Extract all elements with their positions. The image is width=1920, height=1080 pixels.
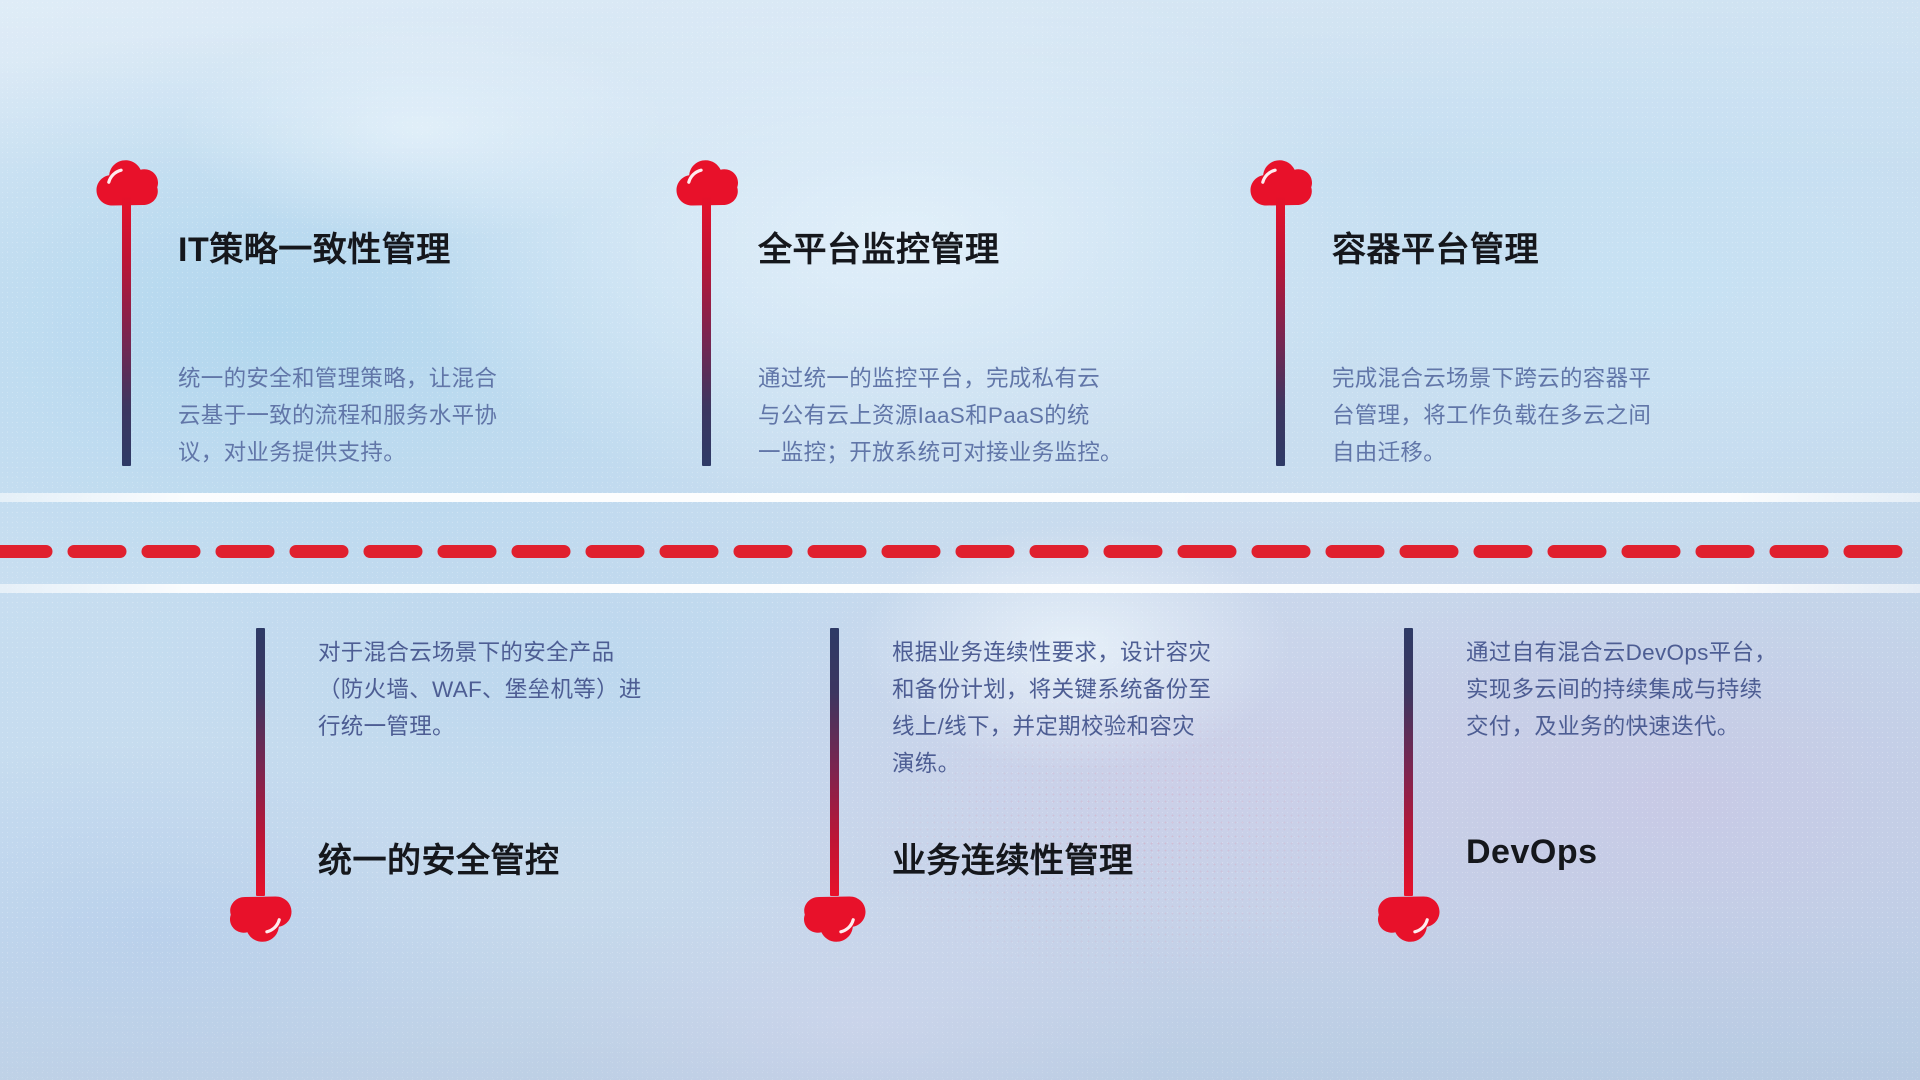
description-line: 演练。 — [892, 745, 1322, 782]
description-line: 线上/线下，并定期校验和容灾 — [892, 708, 1322, 745]
cloud-icon — [804, 896, 866, 942]
section-description: 通过自有混合云DevOps平台， 实现多云间的持续集成与持续 交付，及业务的快速… — [1466, 634, 1886, 745]
section-description: 通过统一的监控平台，完成私有云 与公有云上资源IaaS和PaaS的统 一监控；开… — [758, 360, 1198, 471]
section-title: 全平台监控管理 — [758, 222, 1000, 271]
description-line: 议，对业务提供支持。 — [178, 434, 598, 471]
description-line: 一监控；开放系统可对接业务监控。 — [758, 434, 1198, 471]
description-line: 根据业务连续性要求，设计容灾 — [892, 634, 1322, 671]
divider-bar-lower — [0, 584, 1920, 593]
description-line: 实现多云间的持续集成与持续 — [1466, 671, 1886, 708]
description-line: 通过自有混合云DevOps平台， — [1466, 634, 1886, 671]
cloud-icon — [1378, 896, 1440, 942]
section-description: 完成混合云场景下跨云的容器平 台管理，将工作负载在多云之间 自由迁移。 — [1332, 360, 1752, 471]
description-line: 统一的安全和管理策略，让混合 — [178, 360, 598, 397]
divider-bar-upper — [0, 493, 1920, 502]
section-title: DevOps — [1466, 833, 1598, 872]
connector-line — [1276, 196, 1285, 466]
description-line: 与公有云上资源IaaS和PaaS的统 — [758, 397, 1198, 434]
connector-line — [830, 628, 839, 896]
description-line: 行统一管理。 — [318, 708, 748, 745]
connector-line — [1404, 628, 1413, 896]
section-description: 对于混合云场景下的安全产品 （防火墙、WAF、堡垒机等）进 行统一管理。 — [318, 634, 748, 745]
section-title: 容器平台管理 — [1332, 222, 1539, 271]
section-description: 根据业务连续性要求，设计容灾 和备份计划，将关键系统备份至 线上/线下，并定期校… — [892, 634, 1322, 782]
connector-line — [256, 628, 265, 896]
description-line: 对于混合云场景下的安全产品 — [318, 634, 748, 671]
section-description: 统一的安全和管理策略，让混合 云基于一致的流程和服务水平协 议，对业务提供支持。 — [178, 360, 598, 471]
section-title: IT策略一致性管理 — [178, 222, 451, 271]
red-dashed-divider — [0, 545, 1920, 558]
description-line: 完成混合云场景下跨云的容器平 — [1332, 360, 1752, 397]
description-line: 和备份计划，将关键系统备份至 — [892, 671, 1322, 708]
connector-line — [702, 196, 711, 466]
cloud-icon — [230, 896, 292, 942]
description-line: 交付，及业务的快速迭代。 — [1466, 708, 1886, 745]
description-line: 自由迁移。 — [1332, 434, 1752, 471]
description-line: 台管理，将工作负载在多云之间 — [1332, 397, 1752, 434]
section-title: 统一的安全管控 — [318, 833, 560, 882]
description-line: 云基于一致的流程和服务水平协 — [178, 397, 598, 434]
connector-line — [122, 196, 131, 466]
infographic-canvas: IT策略一致性管理 统一的安全和管理策略，让混合 云基于一致的流程和服务水平协 … — [0, 0, 1920, 1080]
section-title: 业务连续性管理 — [892, 833, 1134, 882]
description-line: 通过统一的监控平台，完成私有云 — [758, 360, 1198, 397]
description-line: （防火墙、WAF、堡垒机等）进 — [318, 671, 748, 708]
